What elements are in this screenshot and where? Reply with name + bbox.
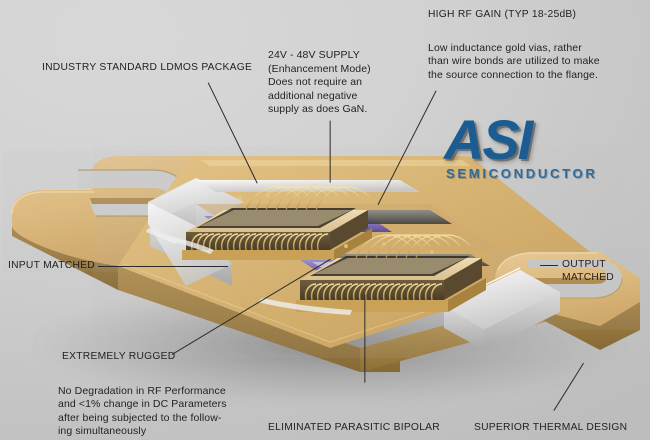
logo-tagline: SEMICONDUCTOR [446, 166, 604, 181]
product-diagram-canvas: INDUSTRY STANDARD LDMOS PACKAGE 24V - 48… [0, 0, 650, 440]
leader-line-eliminated-bipolar [364, 295, 365, 383]
logo-wordmark: ASI [444, 112, 604, 168]
leader-line-input-matched [98, 266, 228, 267]
callout-extremely-rugged: EXTREMELY RUGGED [62, 350, 175, 363]
callout-gold-vias: Low inductance gold vias, rather than wi… [428, 42, 600, 82]
asi-semiconductor-logo: ASI SEMICONDUCTOR [444, 112, 604, 190]
callout-no-degradation: No Degradation in RF Performance and <1%… [58, 385, 227, 439]
leader-line-supply [329, 121, 330, 183]
callout-output-matched: OUTPUT MATCHED [562, 258, 650, 284]
leader-line-output-matched [540, 265, 558, 266]
callout-supply-heading: 24V - 48V SUPPLY [268, 49, 371, 62]
callout-input-matched: INPUT MATCHED [8, 259, 95, 272]
callout-superior-thermal-design: SUPERIOR THERMAL DESIGN [474, 421, 627, 434]
callout-supply: 24V - 48V SUPPLY(Enhancement Mode) Does … [268, 36, 371, 116]
callout-industry-standard-ldmos-package: INDUSTRY STANDARD LDMOS PACKAGE [42, 61, 252, 74]
callout-high-rf-gain: HIGH RF GAIN (TYP 18-25dB) [428, 8, 576, 21]
callout-supply-body: (Enhancement Mode) Does not require an a… [268, 63, 371, 115]
callout-eliminated-parasitic-bipolar: ELIMINATED PARASITIC BIPOLAR [268, 421, 440, 434]
